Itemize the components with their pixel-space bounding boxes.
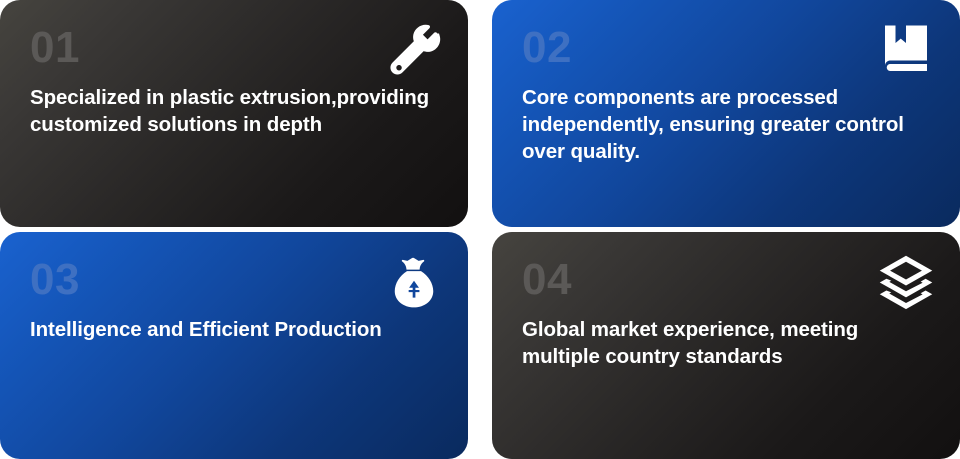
card-text: Specialized in plastic extrusion,providi… — [30, 84, 438, 138]
card-number: 03 — [30, 258, 438, 302]
card-number: 02 — [522, 26, 930, 70]
feature-card-02[interactable]: 02 Core components are processed indepen… — [492, 0, 960, 227]
feature-card-03[interactable]: 03 Intelligence and Efficient Production — [0, 232, 468, 459]
card-number: 01 — [30, 26, 438, 70]
feature-cards-grid: 01 Specialized in plastic extrusion,prov… — [0, 0, 960, 459]
feature-card-01[interactable]: 01 Specialized in plastic extrusion,prov… — [0, 0, 468, 227]
feature-card-04[interactable]: 04 Global market experience, meeting mul… — [492, 232, 960, 459]
card-text: Global market experience, meeting multip… — [522, 316, 930, 370]
card-number: 04 — [522, 258, 930, 302]
card-text: Core components are processed independen… — [522, 84, 930, 165]
card-text: Intelligence and Efficient Production — [30, 316, 438, 343]
